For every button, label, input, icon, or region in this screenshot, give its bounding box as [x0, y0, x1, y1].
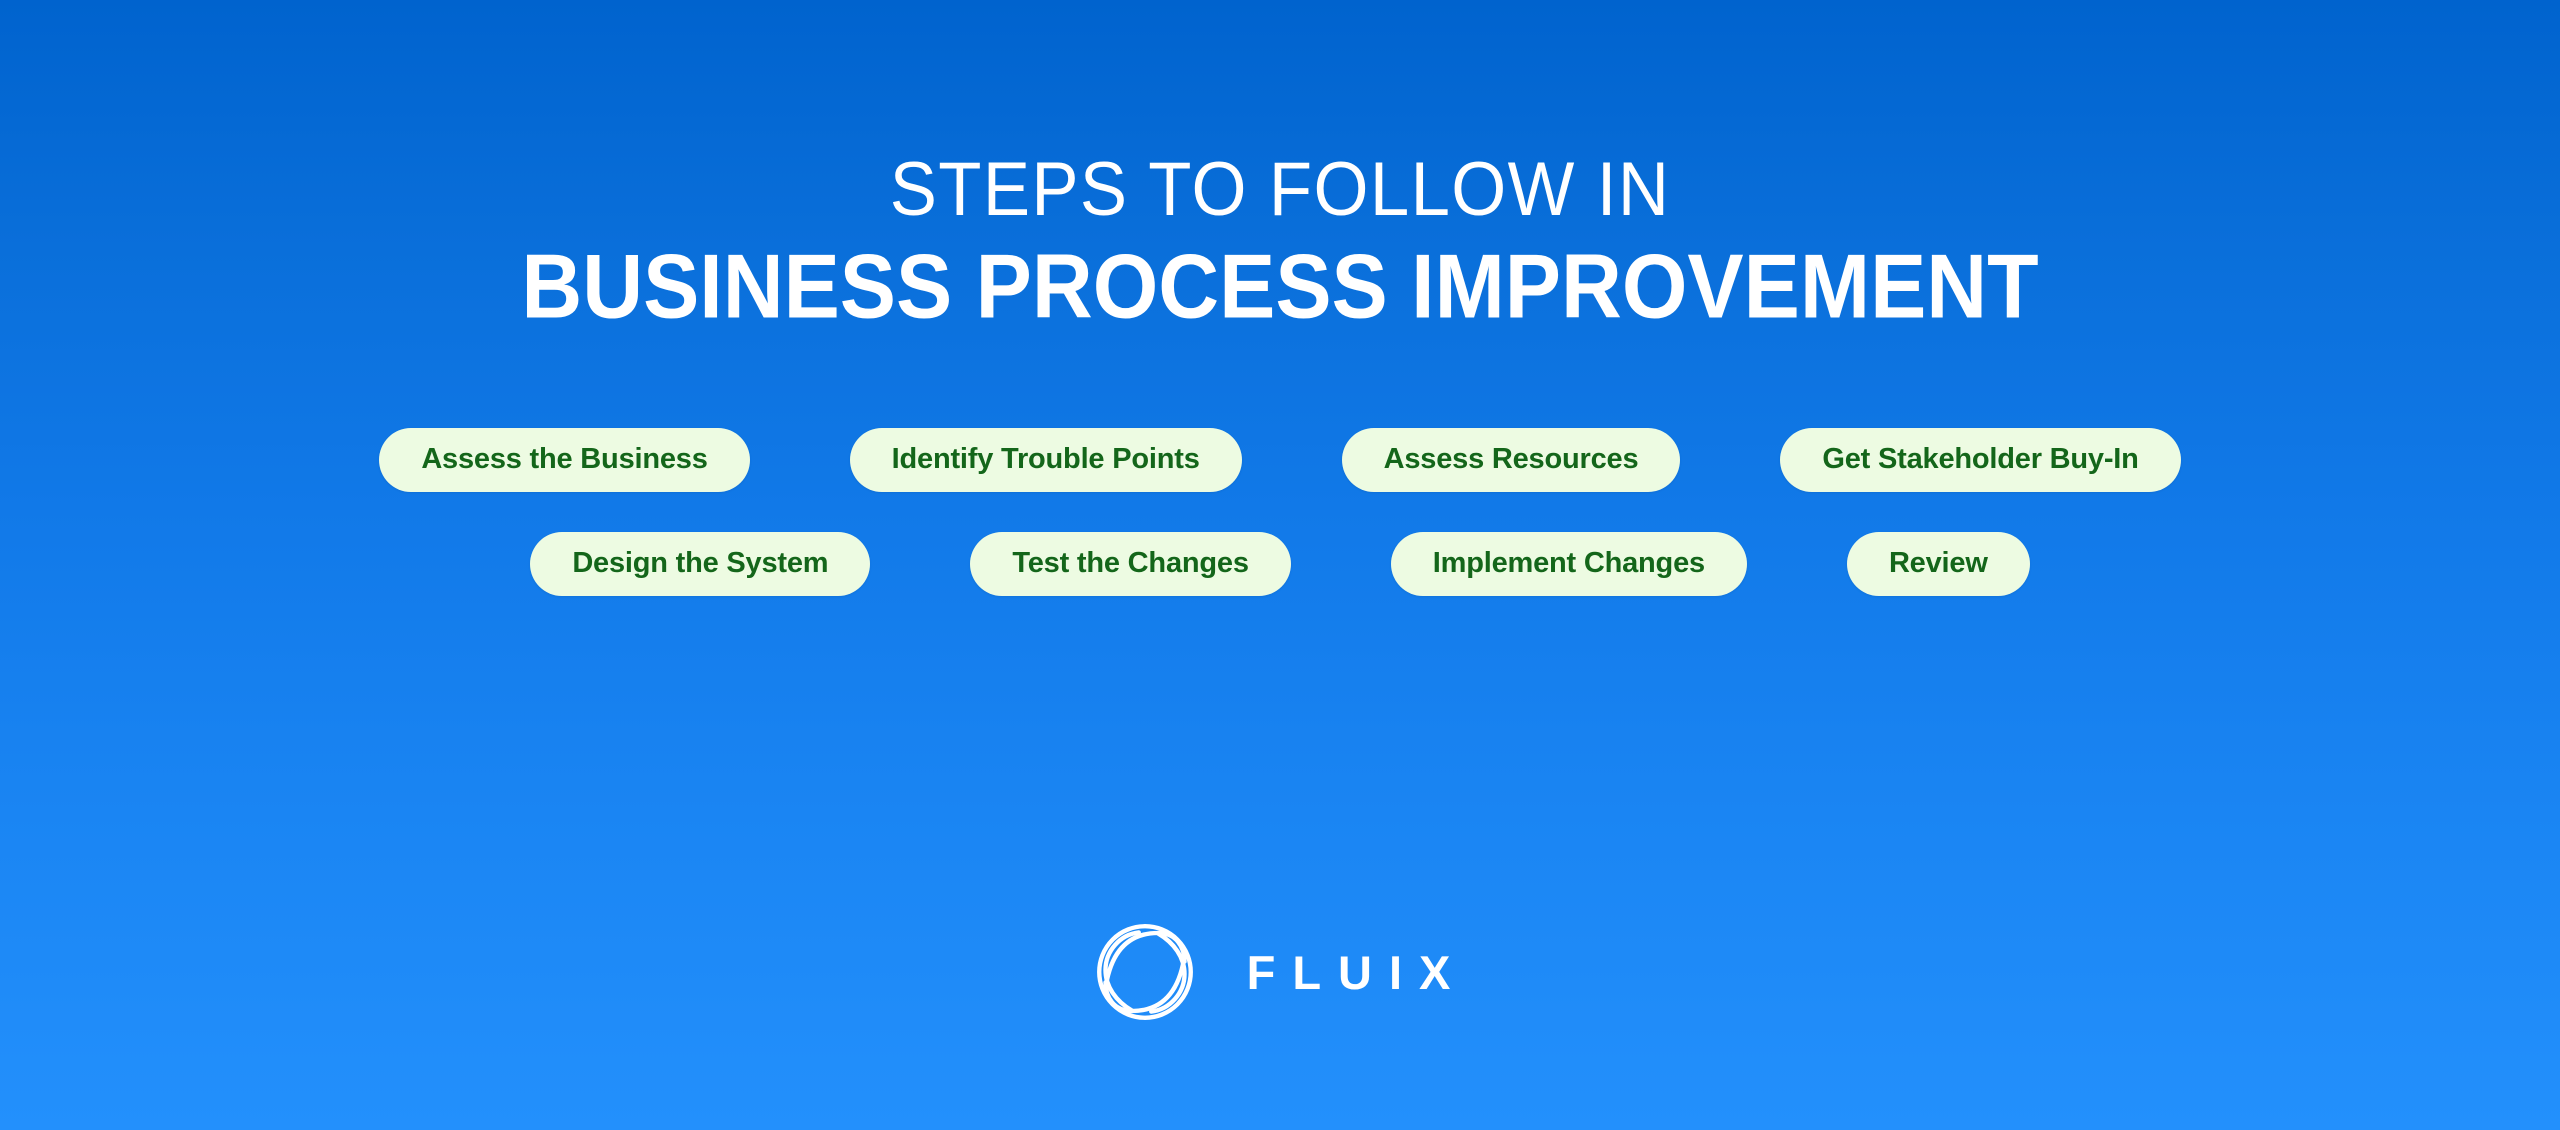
fluix-circle-logo-icon [1093, 920, 1197, 1024]
brand-logo: FLUIX [0, 920, 2560, 1024]
infographic-canvas: { "background": { "gradient_from": "#006… [0, 0, 2560, 1130]
step-pill-assess-resources[interactable]: Assess Resources [1342, 428, 1681, 492]
step-pill-assess-the-business[interactable]: Assess the Business [379, 428, 749, 492]
steps-list: Assess the Business Identify Trouble Poi… [0, 428, 2560, 596]
step-pill-label: Get Stakeholder Buy-In [1822, 443, 2138, 476]
brand-wordmark: FLUIX [1241, 949, 1468, 996]
step-pill-label: Assess the Business [421, 443, 707, 476]
step-pill-label: Review [1889, 547, 1988, 580]
step-pill-label: Assess Resources [1384, 443, 1639, 476]
headline-line-2: Business Process Improvement [26, 241, 2535, 334]
step-pill-get-stakeholder-buy-in[interactable]: Get Stakeholder Buy-In [1780, 428, 2180, 492]
step-pill-review[interactable]: Review [1847, 532, 2030, 596]
step-pill-test-the-changes[interactable]: Test the Changes [970, 532, 1290, 596]
step-pill-identify-trouble-points[interactable]: Identify Trouble Points [850, 428, 1242, 492]
step-pill-design-the-system[interactable]: Design the System [530, 532, 870, 596]
steps-row-2: Design the System Test the Changes Imple… [530, 532, 2029, 596]
step-pill-label: Identify Trouble Points [892, 443, 1200, 476]
page-title: Steps to Follow in Business Process Impr… [0, 152, 2560, 332]
step-pill-label: Test the Changes [1012, 547, 1248, 580]
steps-row-1: Assess the Business Identify Trouble Poi… [379, 428, 2180, 492]
step-pill-label: Implement Changes [1433, 547, 1705, 580]
step-pill-label: Design the System [572, 547, 828, 580]
step-pill-implement-changes[interactable]: Implement Changes [1391, 532, 1747, 596]
headline-line-1: Steps to Follow in [90, 152, 2471, 228]
